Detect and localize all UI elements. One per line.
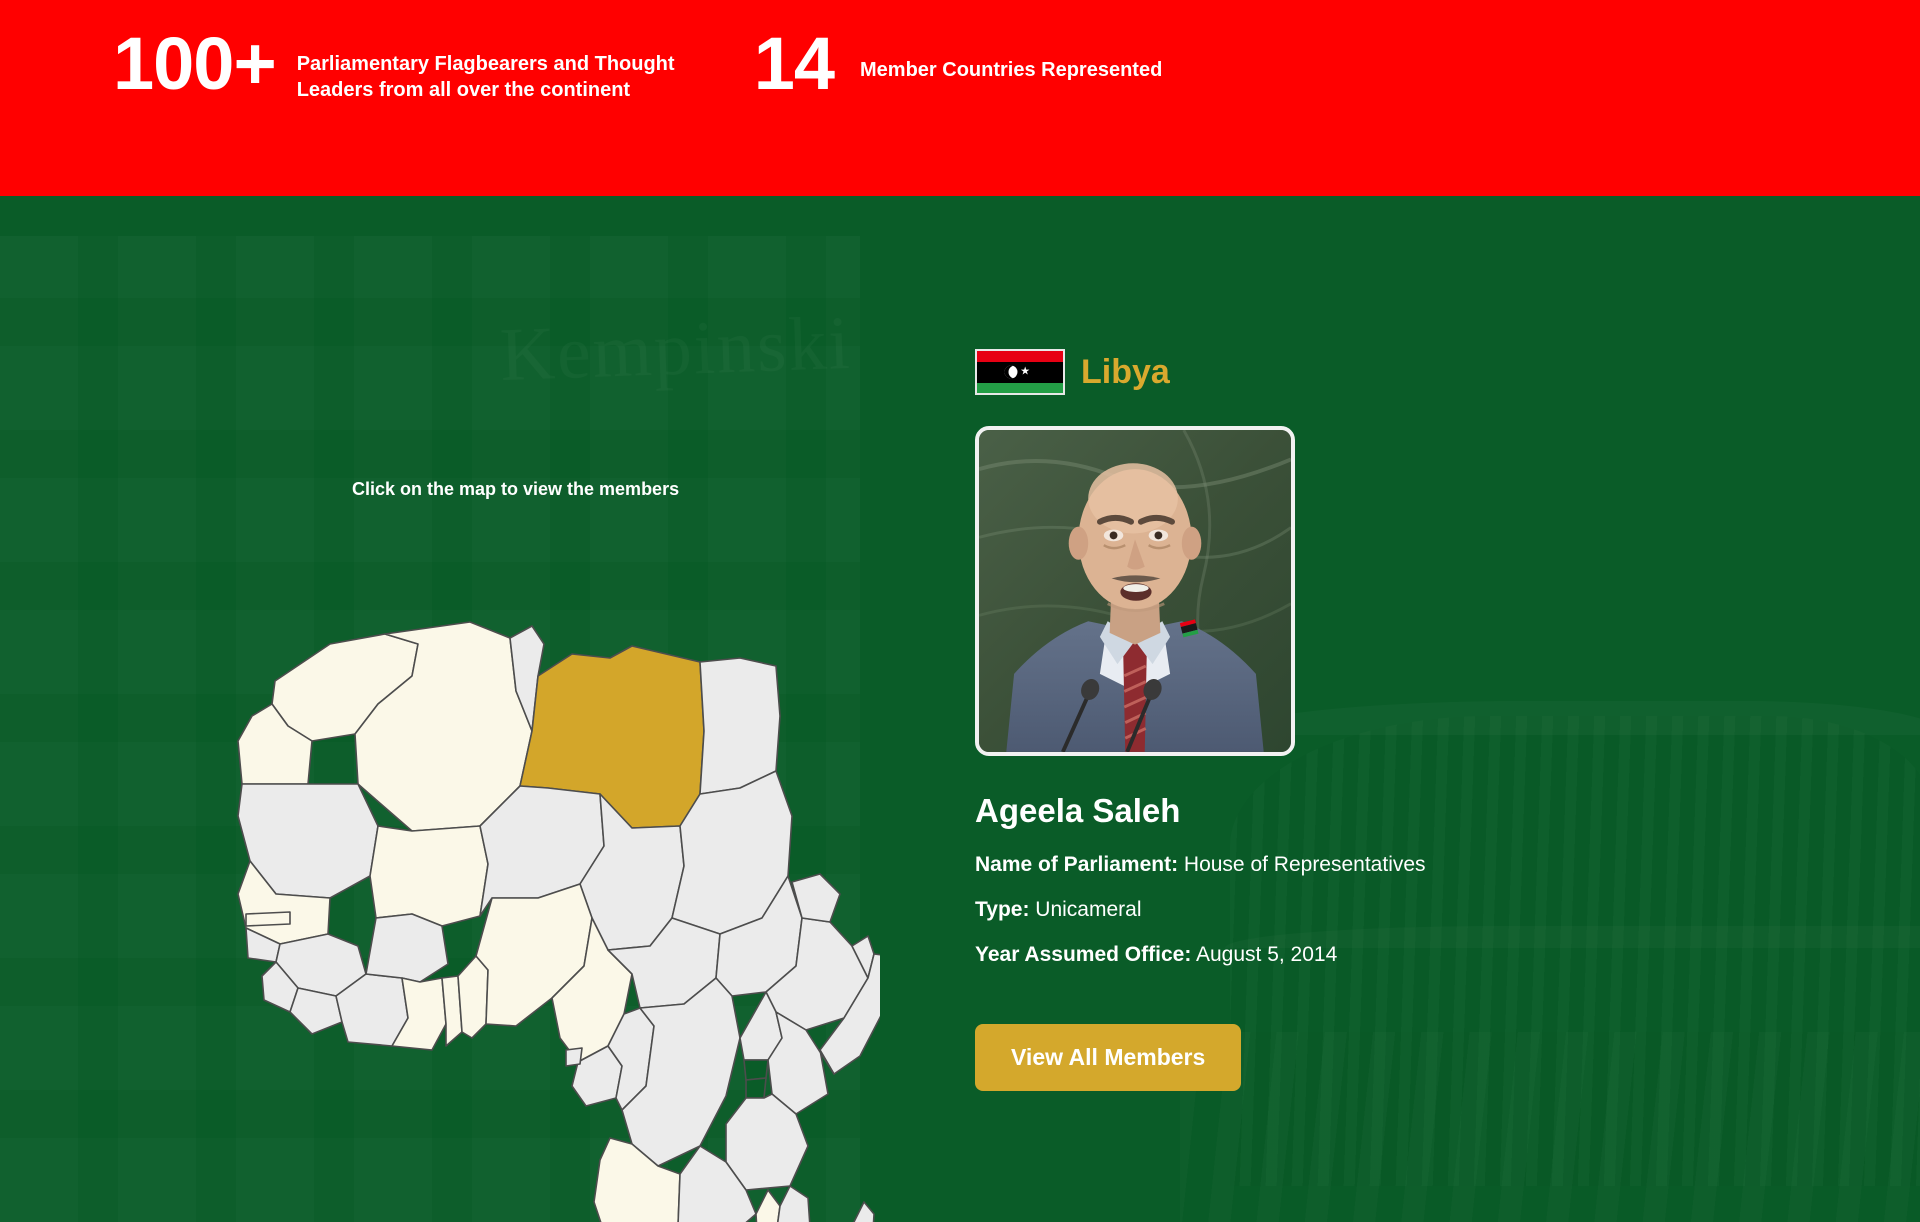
fact-parliament-name-value: House of Representatives [1184, 853, 1426, 876]
fact-type-label: Type: [975, 898, 1029, 921]
stat-number-member-countries: 14 [754, 30, 834, 98]
flag-stripe-red [977, 351, 1063, 362]
person-name: Ageela Saleh [975, 792, 1735, 830]
stat-block-flagbearers: 100+ Parliamentary Flagbearers and Thoug… [113, 30, 706, 103]
map-country-egypt [700, 658, 780, 794]
map-country-burkina-faso [366, 914, 448, 982]
country-detail-panel: ★ Libya [975, 346, 1735, 1091]
map-country-madagascar [830, 1202, 874, 1222]
fact-parliament-name: Name of Parliament: House of Representat… [975, 852, 1735, 877]
background-watermark-text: Kempinski [499, 300, 853, 399]
fact-type-value: Unicameral [1035, 898, 1141, 921]
flag-star-icon: ★ [1020, 367, 1030, 378]
stat-label-flagbearers: Parliamentary Flagbearers and Thought Le… [276, 30, 706, 103]
map-country-malawi [756, 1190, 780, 1222]
fact-year-assumed-office-label: Year Assumed Office: [975, 943, 1191, 966]
map-country-gambia [246, 912, 290, 926]
stat-number-flagbearers: 100+ [113, 30, 276, 98]
libya-flag-icon: ★ [975, 349, 1065, 395]
flag-stripe-green [977, 383, 1063, 394]
fact-year-assumed-office-value: August 5, 2014 [1196, 943, 1337, 966]
map-country-liberia [290, 988, 342, 1034]
map-country-burundi [746, 1078, 766, 1098]
country-name: Libya [1081, 353, 1170, 392]
main-stage: Kempinski Click on the map to view the m… [0, 196, 1920, 1222]
stats-banner: 100+ Parliamentary Flagbearers and Thoug… [0, 0, 1920, 196]
flag-crescent-icon [1004, 366, 1017, 379]
map-hint-label: Click on the map to view the members [352, 479, 679, 500]
stat-label-member-countries: Member Countries Represented [834, 30, 1254, 84]
stat-block-member-countries: 14 Member Countries Represented [754, 30, 1254, 98]
map-country-equatorial-guinea [566, 1048, 582, 1066]
fact-parliament-name-label: Name of Parliament: [975, 853, 1178, 876]
fact-type: Type: Unicameral [975, 897, 1735, 922]
fact-year-assumed-office: Year Assumed Office: August 5, 2014 [975, 942, 1735, 967]
map-country-rwanda [744, 1060, 768, 1080]
map-country-benin [458, 956, 488, 1038]
view-all-members-button[interactable]: View All Members [975, 1024, 1241, 1091]
member-portrait [975, 426, 1295, 756]
africa-map[interactable] [180, 526, 880, 1222]
country-header: ★ Libya [975, 346, 1735, 398]
map-country-mali [370, 826, 488, 926]
